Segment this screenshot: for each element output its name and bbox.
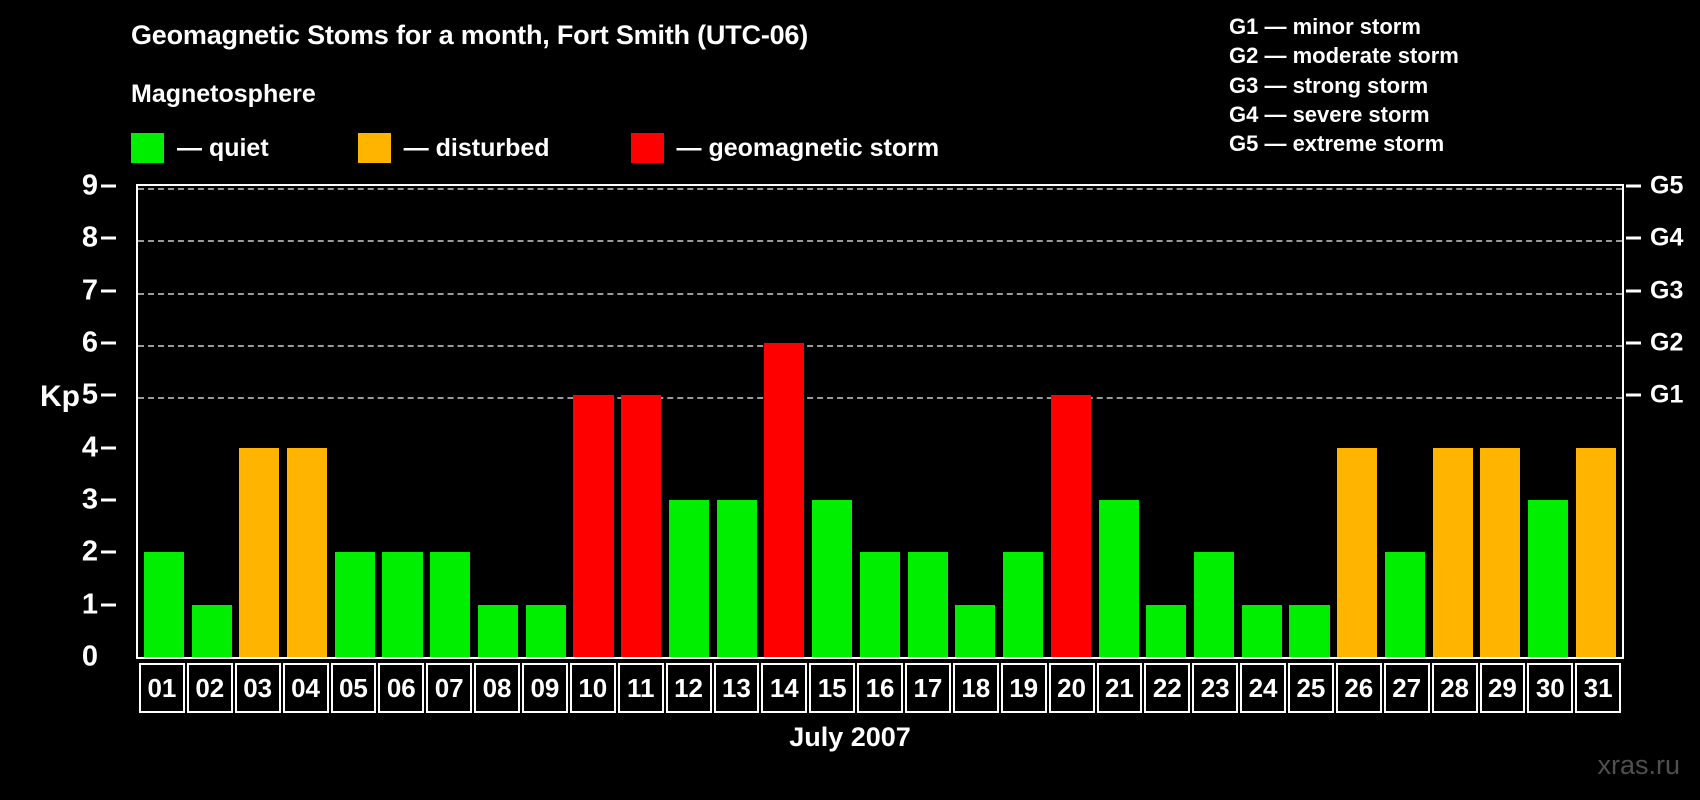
x-axis-day-labels: 0102030405060708091011121314151617181920…	[136, 663, 1624, 713]
y-tick-mark	[101, 394, 116, 397]
day-label-cell[interactable]: 31	[1575, 663, 1621, 713]
bar[interactable]	[1099, 500, 1139, 657]
magnetosphere-heading: Magnetosphere	[131, 80, 316, 109]
g-scale-axis: G5G4G3G2G1	[1624, 184, 1700, 659]
bar[interactable]	[1433, 448, 1473, 657]
y-tick-mark	[101, 551, 116, 554]
y-tick-label: 8	[82, 222, 98, 255]
bar[interactable]	[955, 605, 995, 657]
legend-swatch-icon	[358, 133, 391, 163]
bar-slot[interactable]	[1190, 186, 1238, 657]
bar-slot[interactable]	[522, 186, 570, 657]
page-title: Geomagnetic Stoms for a month, Fort Smit…	[131, 20, 808, 51]
y-tick-label: 6	[82, 327, 98, 360]
g-tick-mark	[1626, 394, 1641, 397]
g-tick-mark	[1626, 289, 1641, 292]
legend-label: — disturbed	[404, 136, 550, 161]
bar[interactable]	[717, 500, 757, 657]
day-label-cell[interactable]: 21	[1097, 663, 1143, 713]
y-tick-label: 5	[82, 379, 98, 412]
day-label-cell[interactable]: 03	[235, 663, 281, 713]
bar-slot[interactable]	[1238, 186, 1286, 657]
g-scale-key-row: G5 — extreme storm	[1229, 129, 1459, 158]
bar-slot[interactable]	[188, 186, 236, 657]
day-label-cell[interactable]: 14	[761, 663, 807, 713]
day-label-cell[interactable]: 23	[1192, 663, 1238, 713]
g-tick-mark	[1626, 342, 1641, 345]
bar-slot[interactable]	[1477, 186, 1525, 657]
day-label-cell[interactable]: 17	[905, 663, 951, 713]
y-tick-mark	[101, 289, 116, 292]
bar[interactable]	[430, 552, 470, 657]
day-label-cell[interactable]: 16	[857, 663, 903, 713]
y-tick-label: 0	[82, 641, 98, 674]
bar-slot[interactable]	[1524, 186, 1572, 657]
y-tick-mark	[101, 237, 116, 240]
g-tick-label: G1	[1650, 381, 1683, 410]
bar[interactable]	[144, 552, 184, 657]
bar[interactable]	[1289, 605, 1329, 657]
day-label-cell[interactable]: 26	[1336, 663, 1382, 713]
y-tick-label: 3	[82, 484, 98, 517]
day-label-cell[interactable]: 04	[283, 663, 329, 713]
bar-slot[interactable]	[474, 186, 522, 657]
bar[interactable]	[812, 500, 852, 657]
magnetosphere-legend: — quiet— disturbed— geomagnetic storm	[131, 133, 939, 163]
legend-label: — geomagnetic storm	[677, 136, 940, 161]
legend-label: — quiet	[177, 136, 269, 161]
bar-slot[interactable]	[904, 186, 952, 657]
bar-slot[interactable]	[1381, 186, 1429, 657]
day-label-cell[interactable]: 13	[714, 663, 760, 713]
y-tick-label: 4	[82, 431, 98, 464]
day-label-cell[interactable]: 02	[187, 663, 233, 713]
bar[interactable]	[478, 605, 518, 657]
bar-slot[interactable]	[1572, 186, 1620, 657]
day-label-cell[interactable]: 25	[1288, 663, 1334, 713]
y-tick-label: 7	[82, 274, 98, 307]
g-scale-key-row: G3 — strong storm	[1229, 71, 1459, 100]
x-axis-title: July 2007	[0, 722, 1700, 753]
bar[interactable]	[192, 605, 232, 657]
day-label-cell[interactable]: 20	[1049, 663, 1095, 713]
y-tick-label: 2	[82, 536, 98, 569]
bar-slot[interactable]	[1286, 186, 1334, 657]
g-tick-mark	[1626, 237, 1641, 240]
day-label-cell[interactable]: 22	[1144, 663, 1190, 713]
y-tick-mark	[101, 446, 116, 449]
day-label-cell[interactable]: 07	[426, 663, 472, 713]
bar-slot[interactable]	[1333, 186, 1381, 657]
bar[interactable]	[1480, 448, 1520, 657]
bar-slot[interactable]	[1047, 186, 1095, 657]
day-label-cell[interactable]: 24	[1240, 663, 1286, 713]
day-label-cell[interactable]: 08	[474, 663, 520, 713]
bar[interactable]	[1337, 448, 1377, 657]
bar[interactable]	[1576, 448, 1616, 657]
bar[interactable]	[1528, 500, 1568, 657]
bar-slot[interactable]	[570, 186, 618, 657]
legend-entry: — geomagnetic storm	[631, 133, 940, 163]
bar[interactable]	[1385, 552, 1425, 657]
day-label-cell[interactable]: 29	[1480, 663, 1526, 713]
y-tick-mark	[101, 603, 116, 606]
y-tick-label: 1	[82, 588, 98, 621]
bar-slot[interactable]	[331, 186, 379, 657]
bar[interactable]	[573, 395, 613, 657]
day-label-cell[interactable]: 05	[331, 663, 377, 713]
y-axis: 9876543210	[0, 184, 130, 659]
day-label-cell[interactable]: 30	[1527, 663, 1573, 713]
day-label-cell[interactable]: 09	[522, 663, 568, 713]
bar-slot[interactable]	[665, 186, 713, 657]
bar[interactable]	[335, 552, 375, 657]
legend-entry: — quiet	[131, 133, 269, 163]
bar-slot[interactable]	[235, 186, 283, 657]
y-tick-mark	[101, 342, 116, 345]
day-label-cell[interactable]: 11	[618, 663, 664, 713]
day-label-cell[interactable]: 15	[809, 663, 855, 713]
bar-series	[138, 186, 1622, 657]
bar-slot[interactable]	[379, 186, 427, 657]
day-label-cell[interactable]: 18	[953, 663, 999, 713]
bar[interactable]	[1194, 552, 1234, 657]
g-tick-label: G4	[1650, 224, 1683, 253]
bar[interactable]	[526, 605, 566, 657]
day-label-cell[interactable]: 19	[1001, 663, 1047, 713]
bar[interactable]	[239, 448, 279, 657]
y-tick-label: 9	[82, 170, 98, 203]
bar-slot[interactable]	[140, 186, 188, 657]
bar-slot[interactable]	[761, 186, 809, 657]
g-scale-key-row: G2 — moderate storm	[1229, 41, 1459, 70]
g-tick-mark	[1626, 185, 1641, 188]
y-tick-mark	[101, 185, 116, 188]
g-tick-label: G5	[1650, 172, 1683, 201]
bar-slot[interactable]	[617, 186, 665, 657]
day-label-cell[interactable]: 10	[570, 663, 616, 713]
watermark: xras.ru	[1597, 750, 1680, 781]
day-label-cell[interactable]: 28	[1432, 663, 1478, 713]
day-label-cell[interactable]: 12	[666, 663, 712, 713]
day-label-cell[interactable]: 27	[1384, 663, 1430, 713]
day-label-cell[interactable]: 06	[378, 663, 424, 713]
g-tick-label: G2	[1650, 329, 1683, 358]
bar[interactable]	[860, 552, 900, 657]
legend-swatch-icon	[631, 133, 664, 163]
bar-slot[interactable]	[1142, 186, 1190, 657]
bar-slot[interactable]	[713, 186, 761, 657]
y-tick-mark	[101, 499, 116, 502]
bar[interactable]	[382, 552, 422, 657]
bar[interactable]	[669, 500, 709, 657]
bar-slot[interactable]	[426, 186, 474, 657]
g-scale-key-row: G1 — minor storm	[1229, 12, 1459, 41]
g-scale-key: G1 — minor stormG2 — moderate stormG3 — …	[1229, 12, 1459, 158]
legend-swatch-icon	[131, 133, 164, 163]
bar-slot[interactable]	[283, 186, 331, 657]
bar-slot[interactable]	[951, 186, 999, 657]
legend-entry: — disturbed	[358, 133, 550, 163]
bar-slot[interactable]	[856, 186, 904, 657]
bar-slot[interactable]	[1429, 186, 1477, 657]
bar[interactable]	[621, 395, 661, 657]
g-scale-key-row: G4 — severe storm	[1229, 100, 1459, 129]
bar[interactable]	[764, 343, 804, 657]
g-tick-label: G3	[1650, 276, 1683, 305]
day-label-cell[interactable]: 01	[139, 663, 185, 713]
bar-slot[interactable]	[1095, 186, 1143, 657]
bar[interactable]	[908, 552, 948, 657]
bar[interactable]	[287, 448, 327, 657]
bar[interactable]	[1051, 395, 1091, 657]
bar-slot[interactable]	[999, 186, 1047, 657]
bar-slot[interactable]	[808, 186, 856, 657]
plot-area	[136, 184, 1624, 659]
bar[interactable]	[1242, 605, 1282, 657]
bar[interactable]	[1003, 552, 1043, 657]
bar[interactable]	[1146, 605, 1186, 657]
